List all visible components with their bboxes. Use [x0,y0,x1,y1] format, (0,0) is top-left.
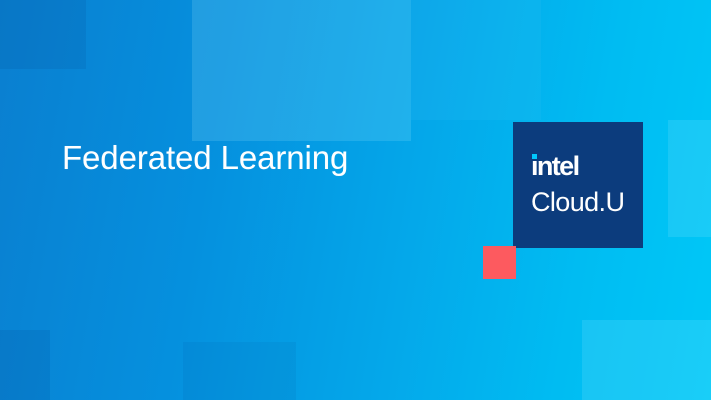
slide-title: Federated Learning [62,138,348,178]
bg-rect-right [668,120,711,237]
title-slide: Federated Learning intel Cloud.U [0,0,711,400]
intel-i-dot-icon [532,154,537,159]
logo-lockup: intel Cloud.U [513,122,643,248]
intel-wordmark: intel [531,152,579,180]
cloudu-wordmark-text: Cloud.U [531,187,624,218]
intel-cloudu-logo: intel Cloud.U [513,122,643,248]
bg-rect-bottom-right [582,320,711,400]
bg-square-top-left [0,0,86,69]
bg-rect-top-right-soft [411,0,541,120]
intel-wordmark-text: intel [531,151,579,181]
coral-accent-square [483,246,516,279]
bg-rect-top-center [192,0,411,141]
bg-rect-bottom-center [183,342,296,400]
bg-square-bottom-left [0,330,50,400]
